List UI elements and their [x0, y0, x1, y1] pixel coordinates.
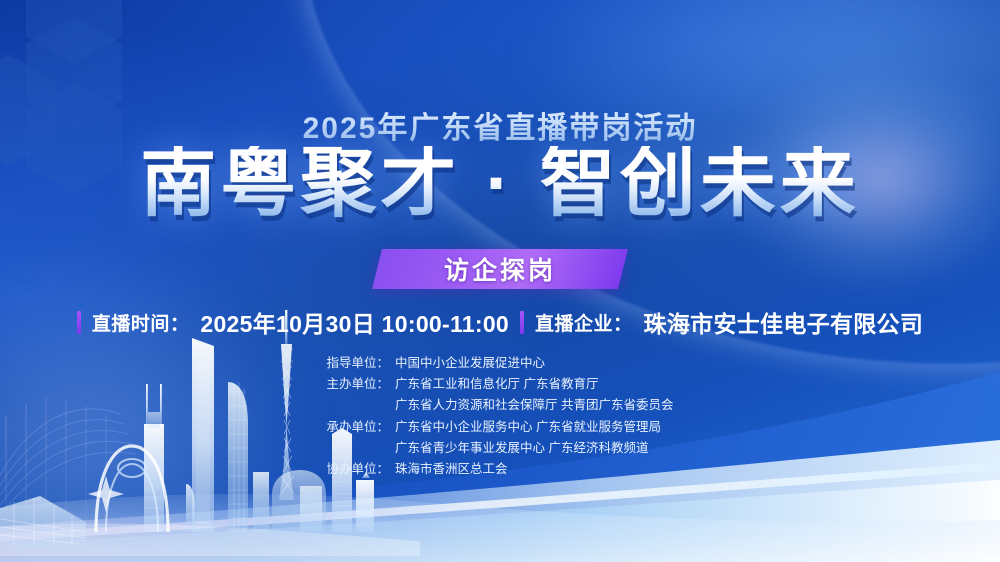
- credits-label: [327, 395, 396, 416]
- live-company-value: 珠海市安士佳电子有限公司: [644, 305, 924, 339]
- live-time-label: 直播时间：: [92, 309, 190, 336]
- credits-label: 指导单位：: [327, 352, 396, 373]
- credits-row: 广东省人力资源和社会保障厅 共青团广东省委员会: [327, 395, 674, 416]
- credits-value: 广东省青少年事业发展中心 广东经济科教频道: [395, 437, 673, 458]
- organizer-credits: 指导单位：中国中小企业发展促进中心主办单位：广东省工业和信息化厅 广东省教育厅广…: [0, 352, 1000, 480]
- broadcast-info-line: 直播时间： 2025年10月30日 10:00-11:00 直播企业： 珠海市安…: [0, 305, 1000, 339]
- credits-row: 指导单位：中国中小企业发展促进中心: [327, 352, 674, 373]
- credits-row: 广东省青少年事业发展中心 广东经济科教频道: [327, 437, 674, 458]
- credits-row: 协办单位：珠海市香洲区总工会: [327, 459, 674, 480]
- credits-label: 协办单位：: [327, 459, 396, 480]
- divider-bar-middle: [520, 311, 524, 334]
- credits-label: 主办单位：: [327, 373, 396, 394]
- credits-value: 中国中小企业发展促进中心: [395, 352, 673, 373]
- live-time-value: 2025年10月30日 10:00-11:00: [200, 305, 509, 339]
- page-title: 南粤聚才 · 智创未来: [0, 146, 1000, 222]
- event-poster: 2025年广东省直播带岗活动 南粤聚才 · 智创未来 访企探岗 直播时间： 20…: [0, 0, 1000, 562]
- badge-container: 访企探岗: [0, 249, 1000, 289]
- credits-value: 广东省中小企业服务中心 广东省就业服务管理局: [395, 416, 673, 437]
- badge-label: 访企探岗: [444, 251, 556, 287]
- credits-value: 珠海市香洲区总工会: [395, 459, 673, 480]
- credits-label: 承办单位：: [327, 416, 396, 437]
- divider-bar-left: [77, 311, 81, 334]
- poster-content: 2025年广东省直播带岗活动 南粤聚才 · 智创未来 访企探岗 直播时间： 20…: [0, 0, 1000, 562]
- credits-label: [327, 437, 396, 458]
- credits-row: 承办单位：广东省中小企业服务中心 广东省就业服务管理局: [327, 416, 674, 437]
- credits-value: 广东省人力资源和社会保障厅 共青团广东省委员会: [395, 395, 673, 416]
- credits-value: 广东省工业和信息化厅 广东省教育厅: [395, 373, 673, 394]
- credits-row: 主办单位：广东省工业和信息化厅 广东省教育厅: [327, 373, 674, 394]
- live-company-label: 直播企业：: [535, 309, 633, 336]
- status-badge: 访企探岗: [372, 249, 628, 289]
